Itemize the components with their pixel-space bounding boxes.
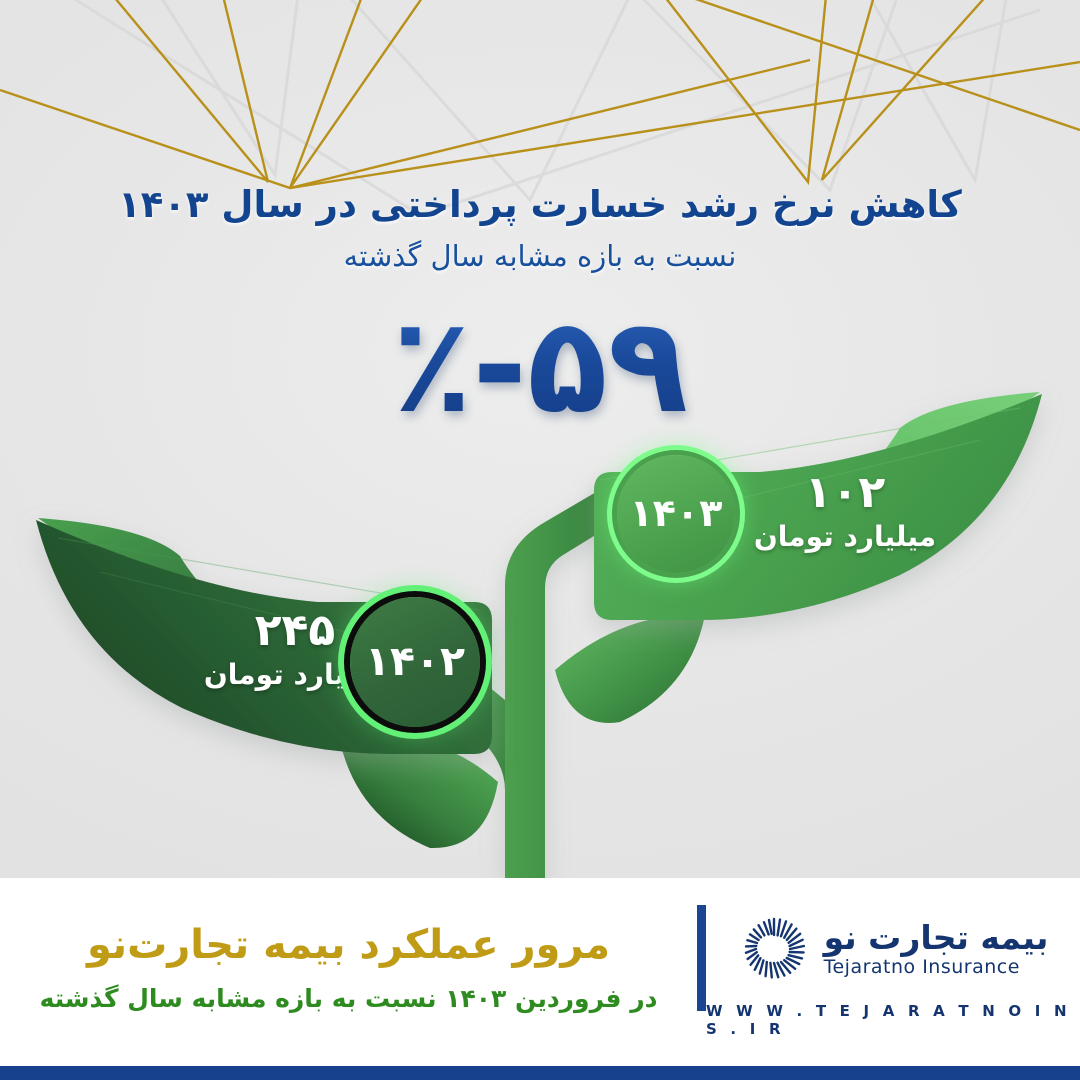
website-url[interactable]: W W W . T E J A R A T N O I N S . I R (706, 1002, 1080, 1038)
year-badge-1402-label: ۱۴۰۲ (365, 637, 465, 685)
sunburst-logo-icon (738, 913, 810, 985)
logo-row: بیمه تجارت نو Tejaratno Insurance (738, 913, 1049, 985)
headline-block: کاهش نرخ رشد خسارت پرداختی در سال ۱۴۰۳ ن… (0, 182, 1080, 275)
year-badge-1403-label: ۱۴۰۳ (630, 491, 723, 535)
footer-bar: بیمه تجارت نو Tejaratno Insurance (0, 878, 1080, 1066)
plant-small-leaf-right (555, 615, 705, 723)
infographic-canvas: کاهش نرخ رشد خسارت پرداختی در سال ۱۴۰۳ ن… (0, 0, 1080, 1080)
logo-name-fa: بیمه تجارت نو (824, 921, 1049, 954)
leaf-amount-1403: ۱۰۲ (735, 470, 955, 516)
logo-wordmark: بیمه تجارت نو Tejaratno Insurance (824, 921, 1049, 977)
footer-divider (697, 905, 706, 1011)
footer-subtitle: در فروردین ۱۴۰۳ نسبت به بازه مشابه سال گ… (40, 983, 658, 1014)
logo-name-en: Tejaratno Insurance (824, 958, 1020, 977)
page-title: کاهش نرخ رشد خسارت پرداختی در سال ۱۴۰۳ (0, 182, 1080, 228)
page-subtitle: نسبت به بازه مشابه سال گذشته (0, 238, 1080, 274)
year-badge-1402: ۱۴۰۲ (350, 597, 480, 727)
footer-text-block: مرور عملکرد بیمه تجارت‌نو در فروردین ۱۴۰… (0, 878, 697, 1066)
footer-title: مرور عملکرد بیمه تجارت‌نو (87, 921, 610, 969)
leaf-unit-1403: میلیارد تومان (735, 520, 955, 554)
brand-logo-block[interactable]: بیمه تجارت نو Tejaratno Insurance (706, 878, 1080, 1066)
year-badge-1403: ۱۴۰۳ (617, 455, 735, 573)
plant-illustration (0, 370, 1080, 880)
bottom-accent-bar (0, 1066, 1080, 1080)
leaf-label-1403: ۱۰۲ میلیارد تومان (735, 470, 955, 554)
